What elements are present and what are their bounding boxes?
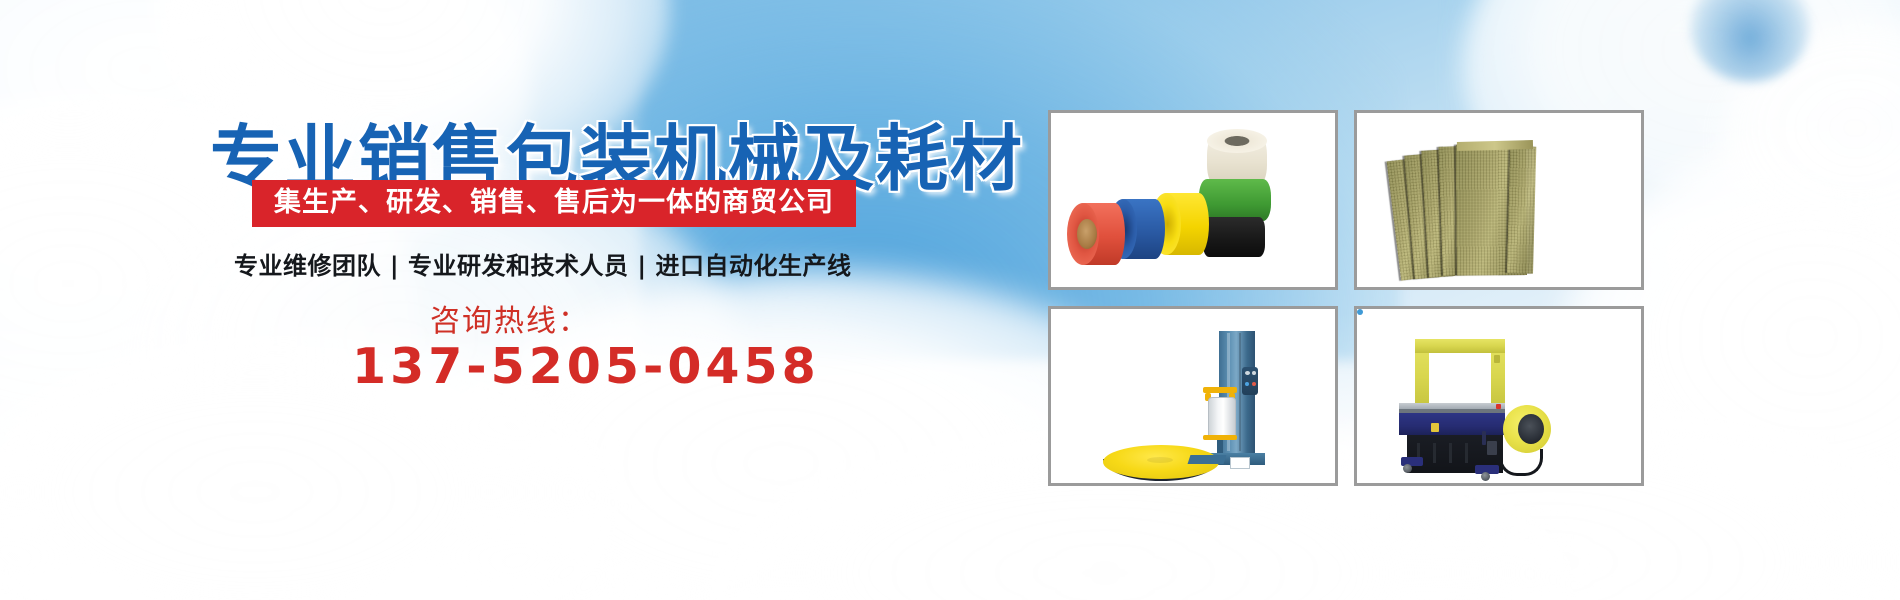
- hotline-number[interactable]: 137-5205-0458: [352, 338, 820, 395]
- photo-strapping-machine[interactable]: [1354, 306, 1644, 486]
- machine-arch-label: [1494, 355, 1500, 363]
- wrapper-panel-button: [1245, 382, 1249, 386]
- wrapper-panel-display: [1252, 371, 1256, 375]
- machine-caster-wheel: [1403, 464, 1412, 473]
- tagline-badge: 集生产、研发、销售、售后为一体的商贸公司: [252, 180, 856, 227]
- wrapper-turntable-mark: [1147, 457, 1173, 463]
- machine-indicator-light: [1496, 404, 1501, 409]
- machine-arch-top: [1415, 339, 1505, 353]
- wrapper-base-cutout: [1230, 457, 1250, 469]
- product-photo-grid: [1048, 110, 1644, 488]
- strap-roll-green: [1199, 179, 1271, 221]
- machine-warning-label: [1431, 423, 1439, 432]
- hotline-label: 咨询热线：: [430, 296, 590, 340]
- photo-woven-sacks[interactable]: [1354, 110, 1644, 290]
- photo-packing-strap-rolls[interactable]: [1048, 110, 1338, 290]
- strap-rolls-illustration: [1051, 113, 1335, 287]
- machine-button: [1357, 309, 1363, 315]
- strapping-machine-illustration: [1357, 309, 1641, 483]
- woven-sack: [1507, 146, 1536, 274]
- strap-roll-white-face: [1207, 129, 1267, 153]
- feature-list: 专业维修团队 | 专业研发和技术人员 | 进口自动化生产线: [234, 246, 851, 281]
- wrapper-panel-display: [1245, 371, 1250, 375]
- wrapper-ramp: [1188, 455, 1227, 464]
- machine-caster-wheel: [1481, 472, 1490, 481]
- machine-vent: [1465, 443, 1468, 463]
- wrapper-stretch-film-roll: [1208, 397, 1236, 439]
- machine-control-box: [1487, 441, 1497, 455]
- machine-vent: [1433, 443, 1436, 463]
- wrapper-panel-button: [1252, 382, 1256, 386]
- stretch-wrapper-illustration: [1051, 309, 1335, 483]
- woven-sacks-illustration: [1357, 113, 1641, 287]
- machine-body-upper: [1399, 413, 1505, 435]
- tagline-text: 集生产、研发、销售、售后为一体的商贸公司: [274, 189, 834, 216]
- strap-roll-black: [1203, 217, 1265, 257]
- strap-roll-red-core: [1077, 219, 1097, 249]
- machine-vent: [1449, 443, 1452, 463]
- machine-side-panel: [1482, 431, 1486, 445]
- machine-coil-guard: [1499, 449, 1543, 476]
- machine-coil-hub: [1518, 414, 1544, 444]
- promo-banner: 专业销售包装机械及耗材 集生产、研发、销售、售后为一体的商贸公司 专业维修团队 …: [0, 0, 1900, 600]
- photo-pallet-stretch-wrapper[interactable]: [1048, 306, 1338, 486]
- wrapper-mast-edge: [1239, 333, 1241, 451]
- headline-block: 专业销售包装机械及耗材 集生产、研发、销售、售后为一体的商贸公司 专业维修团队 …: [0, 0, 1040, 600]
